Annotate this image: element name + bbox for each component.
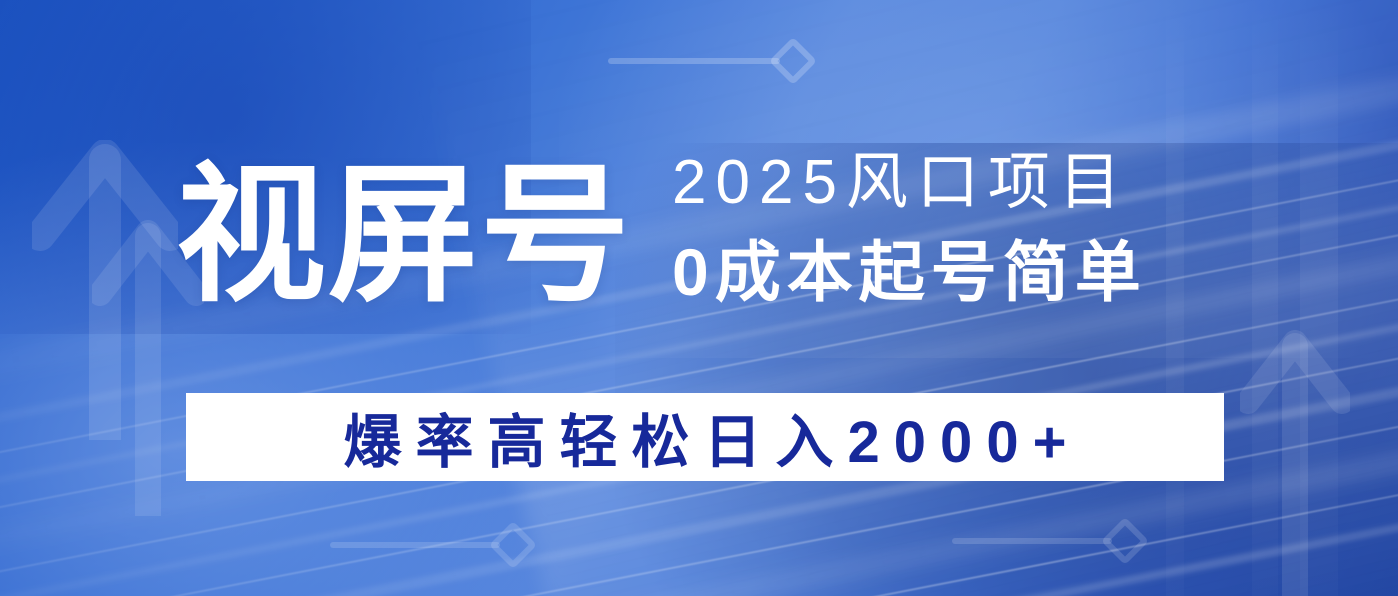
poster-banner-text: 爆率高轻松日入2000+ [330,395,1081,479]
promo-poster: 视屏号 2025风口项目 0成本起号简单 爆率高轻松日入2000+ [0,0,1398,596]
poster-content: 视屏号 2025风口项目 0成本起号简单 爆率高轻松日入2000+ [0,0,1398,596]
poster-subheading-secondary: 0成本起号简单 [672,237,1272,308]
poster-headline: 视屏号 [176,160,632,310]
poster-subheading-primary: 2025风口项目 [672,150,1272,217]
poster-subheadings: 2025风口项目 0成本起号简单 [672,150,1272,308]
poster-highlight-banner: 爆率高轻松日入2000+ [186,393,1224,481]
